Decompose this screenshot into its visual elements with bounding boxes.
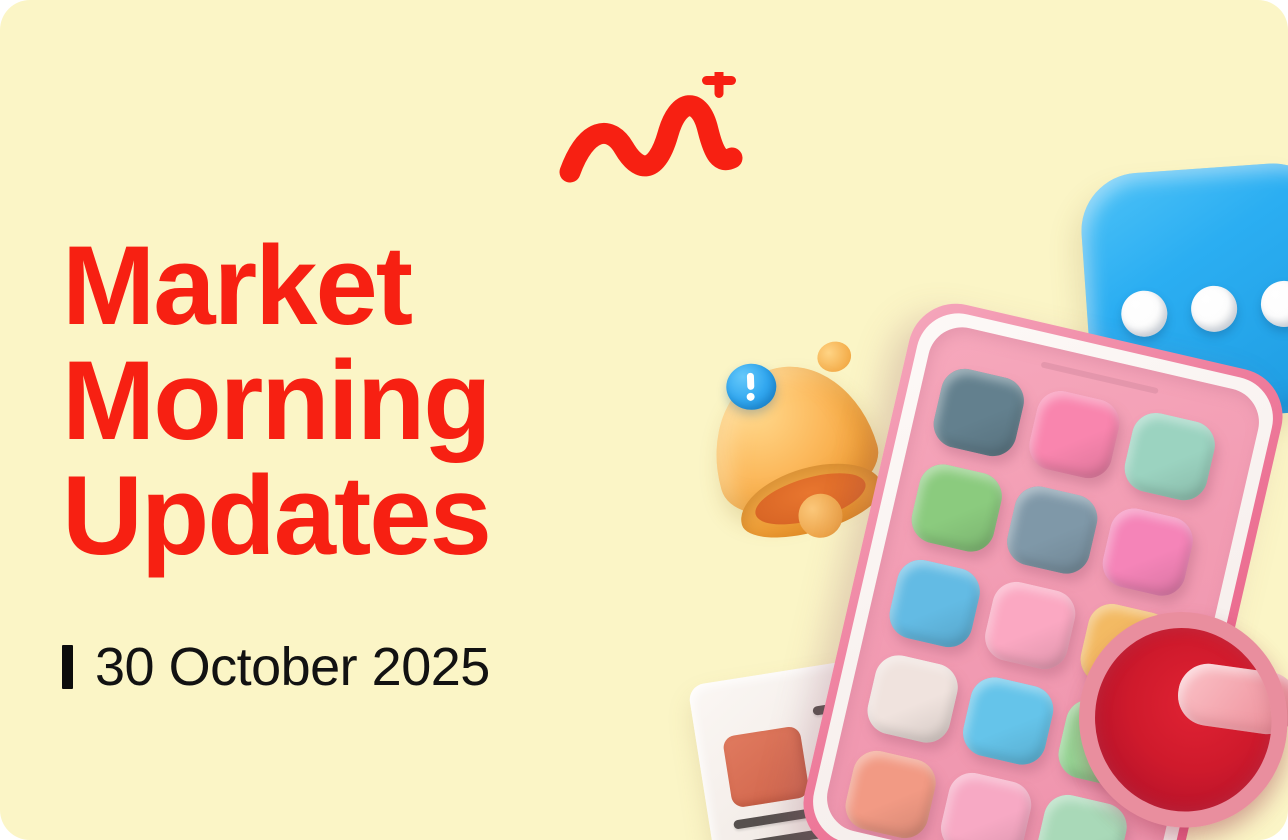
app-icon xyxy=(936,768,1036,840)
app-icon xyxy=(1002,482,1102,579)
app-icon xyxy=(841,746,941,840)
exclamation-dot xyxy=(747,393,755,401)
promo-banner: Market Morning Updates 30 October 2025 xyxy=(0,0,1288,840)
typing-dot-3 xyxy=(1259,279,1288,328)
typing-dot-1 xyxy=(1120,289,1169,338)
app-icon xyxy=(885,555,985,652)
app-icon xyxy=(1098,504,1198,601)
illustration-cluster xyxy=(0,0,1288,840)
app-icon xyxy=(1120,408,1220,505)
bell-knob xyxy=(814,338,855,376)
app-icon xyxy=(980,577,1080,674)
app-icon xyxy=(1024,386,1124,483)
exclamation-stem xyxy=(747,373,755,390)
app-icon xyxy=(929,364,1029,461)
app-icon xyxy=(958,673,1058,770)
app-icon xyxy=(863,651,963,748)
typing-dot-2 xyxy=(1190,284,1239,333)
app-icon xyxy=(907,460,1007,557)
article-thumbnail xyxy=(722,725,810,808)
